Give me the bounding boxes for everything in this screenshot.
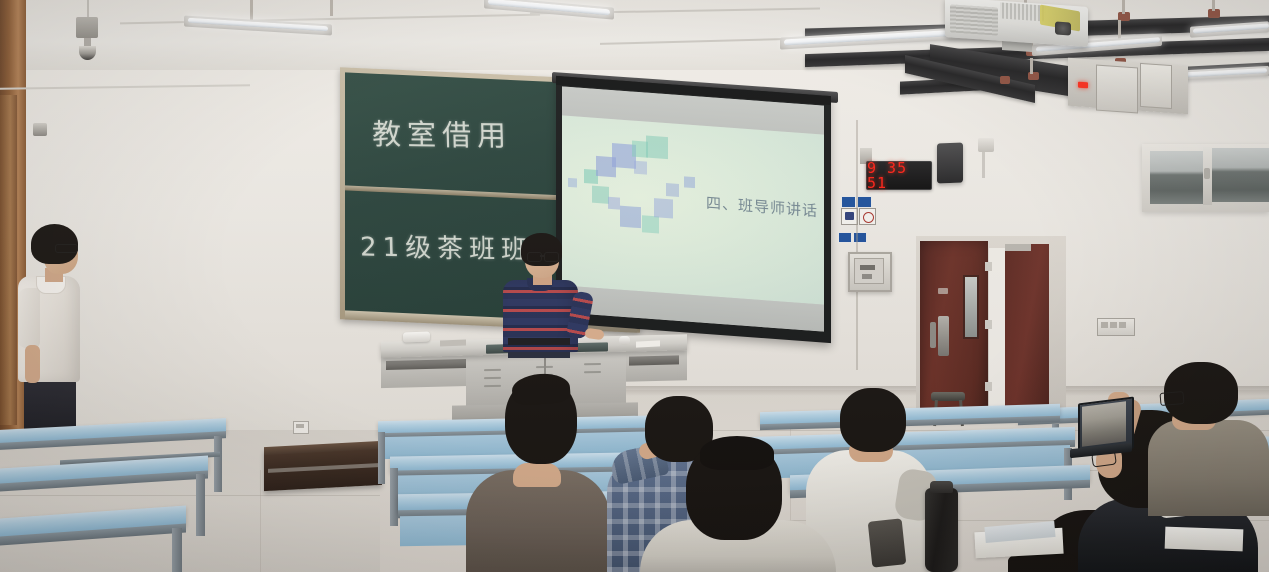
slide-decor-square [654,198,673,218]
computer-mouse-icon[interactable] [619,336,630,345]
wall-speaker-icon [937,143,963,184]
door-right-leaf[interactable] [1005,244,1049,422]
door-hinge [985,382,992,391]
paper-sheet[interactable] [1165,527,1244,552]
projector-vent [950,4,998,35]
lectern-drawer[interactable] [629,355,679,365]
control-box-button[interactable] [862,274,872,279]
desk-leg [214,436,222,492]
tray-hanger [1122,0,1125,14]
door-lock[interactable] [938,316,949,356]
person-neck [513,463,561,487]
panel-label [1140,63,1172,109]
outlet-socket[interactable] [1101,322,1108,328]
door-vision-panel [963,275,979,339]
slide-canvas: 四、班导师讲话 [562,115,824,304]
chalk-text-top: 教室借用 [371,111,512,155]
slide-decor-square [620,206,641,229]
ceiling-sensor [978,138,994,152]
panel-indicator-light [1078,82,1088,89]
clock-digits: 9 35 51 [867,161,931,191]
projection-screen: 四、班导师讲话 [562,86,824,331]
door-handle[interactable] [930,322,936,348]
slide-decor-square [684,176,695,188]
desk-leg [390,468,398,526]
curtain-fold [0,95,17,425]
tile-line [260,470,261,572]
slide-decor-square [568,178,577,188]
wall-outlet-panel[interactable] [1097,318,1135,336]
belt [508,338,570,345]
door-plate-small [938,288,948,294]
person-hair [700,436,774,470]
sensor-stem [982,152,985,178]
slide-decor-square [666,183,679,197]
tile-line [0,495,380,496]
lectern-item [440,340,466,347]
outlet-socket[interactable] [1110,322,1117,328]
person-head [840,388,906,452]
desk-leg [378,432,385,484]
sign-glyph [863,212,874,223]
person-torso [1148,420,1269,516]
tray-hanger [330,0,333,16]
wall-bracket [33,123,47,136]
classroom-photo: 教室借用 21级茶班班 四、班导师讲话 9 35 51 [0,0,1269,572]
slide-decor-square [646,136,668,160]
glasses-icon [544,252,559,262]
slide-title: 四、班导师讲话 [706,192,818,221]
bag-icon[interactable] [868,518,907,567]
outlet-socket[interactable] [1119,322,1126,328]
person-arm [25,345,40,383]
laptop-screen-content [1082,401,1126,446]
notice-sign-blue [838,232,852,243]
notice-sign-blue [857,196,872,208]
control-box-display [860,265,875,270]
window-latch[interactable] [1204,168,1210,179]
slide-decor-square [608,197,620,210]
desk-leg [172,528,182,572]
outlet-socket[interactable] [296,424,304,428]
camera-bracket [76,17,98,38]
wall-seam [856,120,858,370]
door-hinge [985,320,992,329]
projector-lens [1055,21,1071,35]
sign-glyph [845,212,854,220]
door-hinge [985,262,992,271]
panel-door [1096,65,1138,114]
desk-leg [196,474,205,536]
tray-clamp [1000,76,1010,84]
open-door-gap [989,248,1006,418]
no-smoking-sign [859,208,876,225]
window-pane [1150,151,1203,204]
slide-decor-square [642,215,659,233]
notice-sign-blue [841,196,856,208]
door-closer-plate [1005,244,1031,251]
control-box-face [854,258,884,284]
glasses-icon [55,244,78,253]
camera-wire [87,0,89,18]
lectern-paper [636,340,660,347]
water-bottle-icon[interactable] [925,488,958,572]
slide-decor-square [634,161,647,175]
window-pane [1211,148,1269,202]
person-sleeve [18,288,40,348]
desk-phone-icon[interactable] [403,332,430,343]
bottle-cap[interactable] [930,481,953,493]
digital-clock: 9 35 51 [866,161,932,190]
glasses-icon [1159,391,1184,406]
chalk-text-bottom: 21级茶班班 [360,226,534,266]
slide-decor-square [592,186,609,204]
tray-hanger [1030,58,1033,74]
glasses-bridge [540,255,545,257]
tray-hanger [1212,0,1215,11]
glasses-icon [527,252,542,262]
